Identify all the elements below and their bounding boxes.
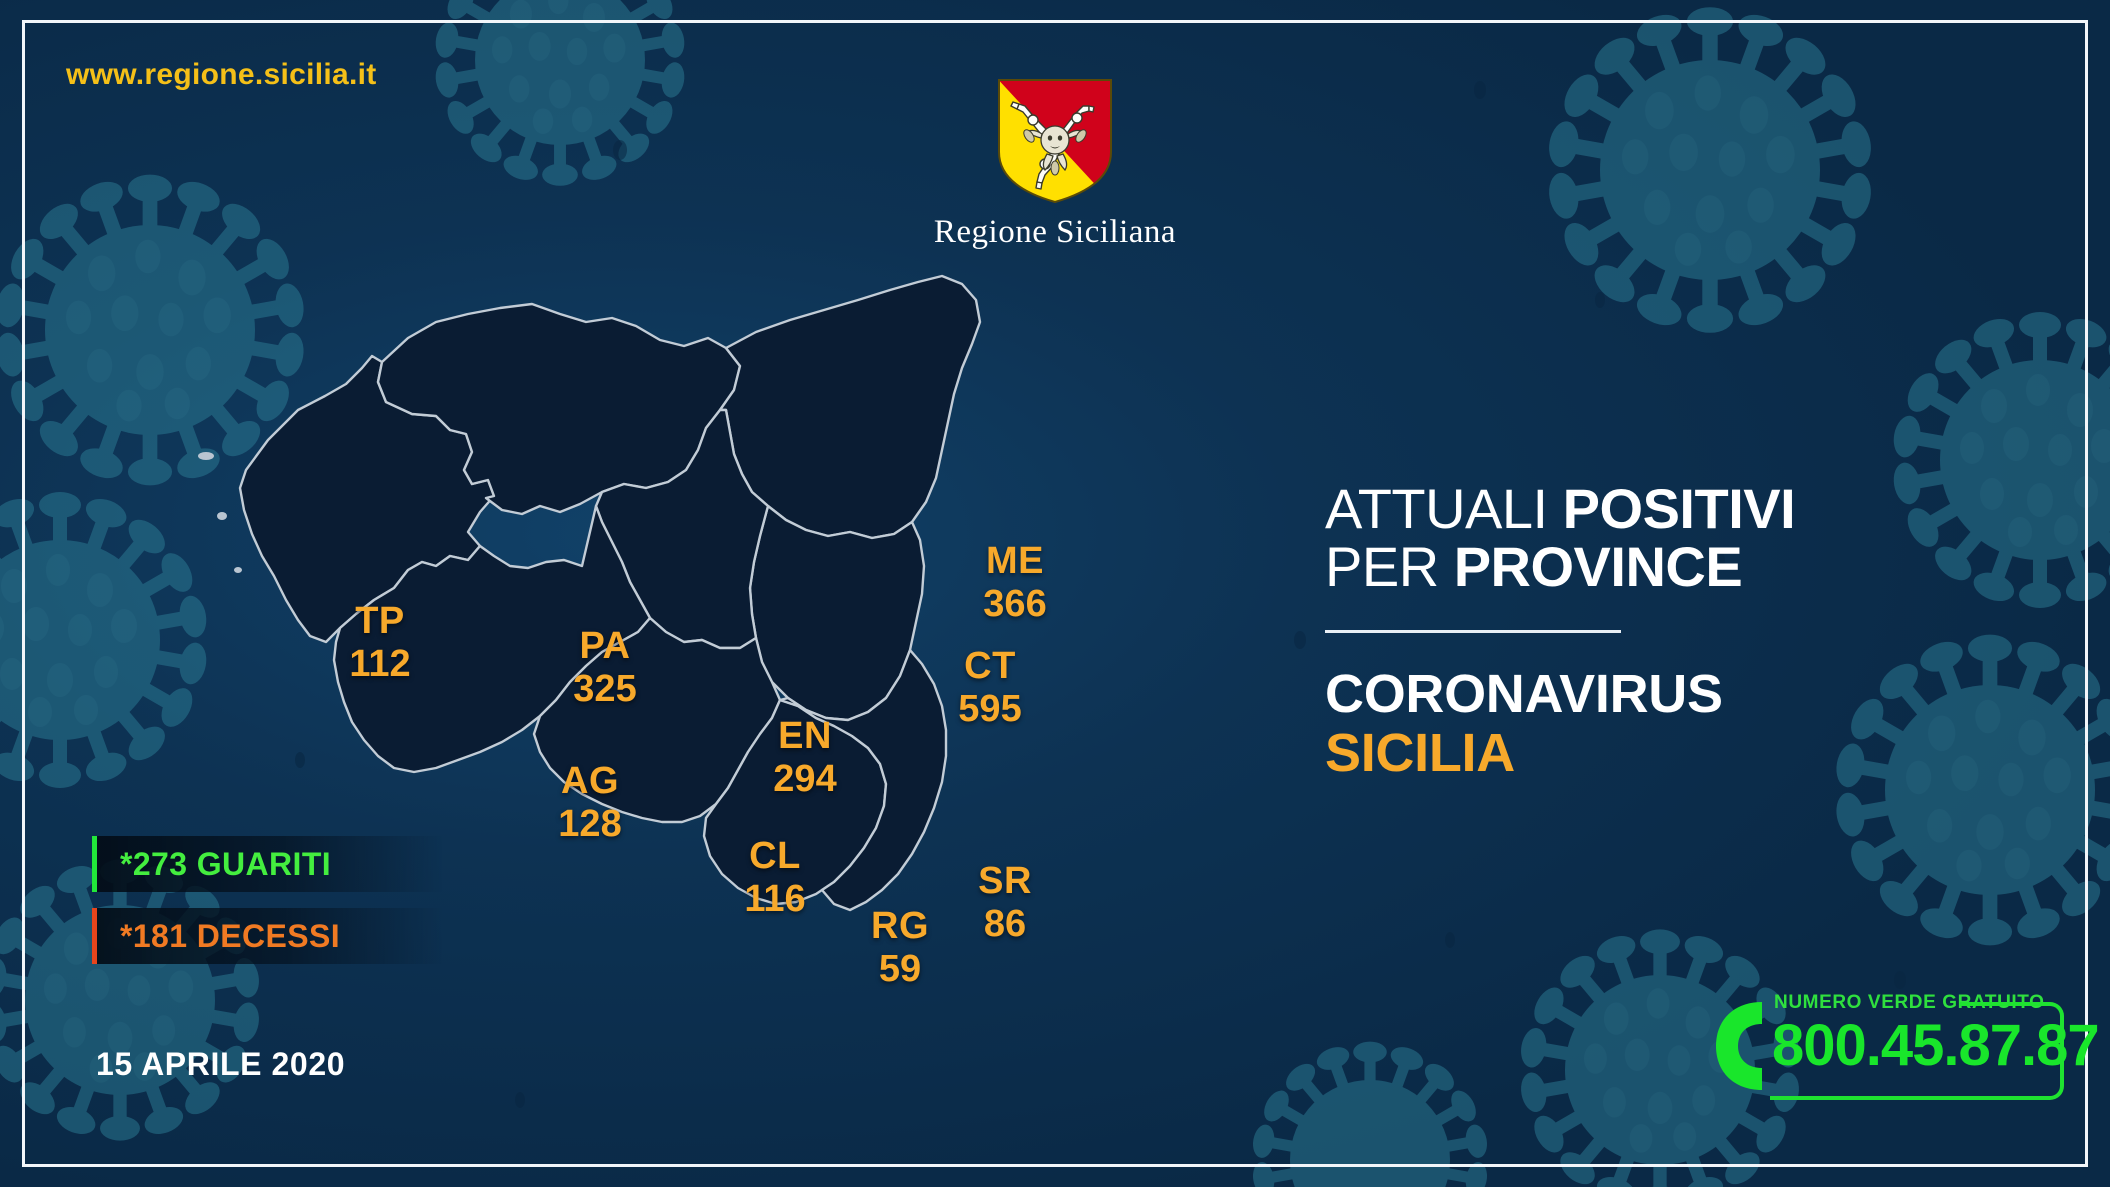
map-label-value-SR: 86 <box>955 905 1055 944</box>
headline-divider <box>1325 630 1621 633</box>
badge-underline-decoration <box>1770 1096 1970 1100</box>
stat-deaths-label: *181 DECESSI <box>120 918 340 955</box>
map-label-code-CL: CL <box>725 837 825 876</box>
map-label-TP: TP 112 <box>330 602 430 684</box>
sicily-coat-of-arms-icon <box>995 76 1115 206</box>
map-label-code-RG: RG <box>850 907 950 946</box>
infographic-canvas: www.regione.sicilia.it <box>0 0 2110 1187</box>
headline-per: PER <box>1325 535 1454 598</box>
map-label-SR: SR 86 <box>955 862 1055 944</box>
stat-recovered-label: *273 GUARITI <box>120 846 331 883</box>
map-label-value-TP: 112 <box>330 645 430 684</box>
map-label-code-AG: AG <box>540 762 640 801</box>
map-label-code-SR: SR <box>955 862 1055 901</box>
map-label-AG: AG 128 <box>540 762 640 844</box>
map-label-CT: CT 595 <box>940 647 1040 729</box>
headline-attuali: ATTUALI <box>1325 477 1563 540</box>
headline-province: PROVINCE <box>1454 535 1743 598</box>
headline-line-2: PER PROVINCE <box>1325 538 1925 596</box>
map-label-EN: EN 294 <box>755 717 855 799</box>
headline-block: ATTUALI POSITIVI PER PROVINCE CORONAVIRU… <box>1325 480 1925 782</box>
headline-line-1: ATTUALI POSITIVI <box>1325 480 1925 538</box>
stat-recovered: *273 GUARITI <box>92 836 442 892</box>
map-label-ME: ME 366 <box>965 542 1065 624</box>
map-label-code-TP: TP <box>330 602 430 641</box>
map-label-value-CT: 595 <box>940 690 1040 729</box>
map-label-value-CL: 116 <box>725 880 825 919</box>
map-label-code-EN: EN <box>755 717 855 756</box>
map-label-code-ME: ME <box>965 542 1065 581</box>
badge-bracket-decoration <box>1960 1002 2064 1100</box>
islet-egadi-1 <box>217 512 227 520</box>
map-label-RG: RG 59 <box>850 907 950 989</box>
regione-siciliana-logo: Regione Siciliana <box>0 76 2110 251</box>
headline-positivi: POSITIVI <box>1563 477 1796 540</box>
report-date: 15 APRILE 2020 <box>96 1046 345 1083</box>
stat-deaths: *181 DECESSI <box>92 908 442 964</box>
map-label-code-PA: PA <box>555 627 655 666</box>
map-label-CL: CL 116 <box>725 837 825 919</box>
islet-egadi-2 <box>198 452 214 460</box>
logo-caption: Regione Siciliana <box>934 214 1176 251</box>
subtitle-coronavirus: CORONAVIRUS <box>1325 665 1925 723</box>
islet-egadi-3 <box>234 567 242 573</box>
map-label-value-EN: 294 <box>755 760 855 799</box>
map-label-value-RG: 59 <box>850 950 950 989</box>
map-label-value-AG: 128 <box>540 805 640 844</box>
map-label-value-ME: 366 <box>965 585 1065 624</box>
phone-handset-icon <box>1712 998 1764 1094</box>
toll-free-number-badge[interactable]: NUMERO VERDE GRATUITO 800.45.87.87 <box>1712 992 2052 1104</box>
subtitle-sicilia: SICILIA <box>1325 724 1925 782</box>
map-label-PA: PA 325 <box>555 627 655 709</box>
map-label-value-PA: 325 <box>555 670 655 709</box>
map-label-code-CT: CT <box>940 647 1040 686</box>
summary-stats: *273 GUARITI *181 DECESSI <box>92 836 442 980</box>
